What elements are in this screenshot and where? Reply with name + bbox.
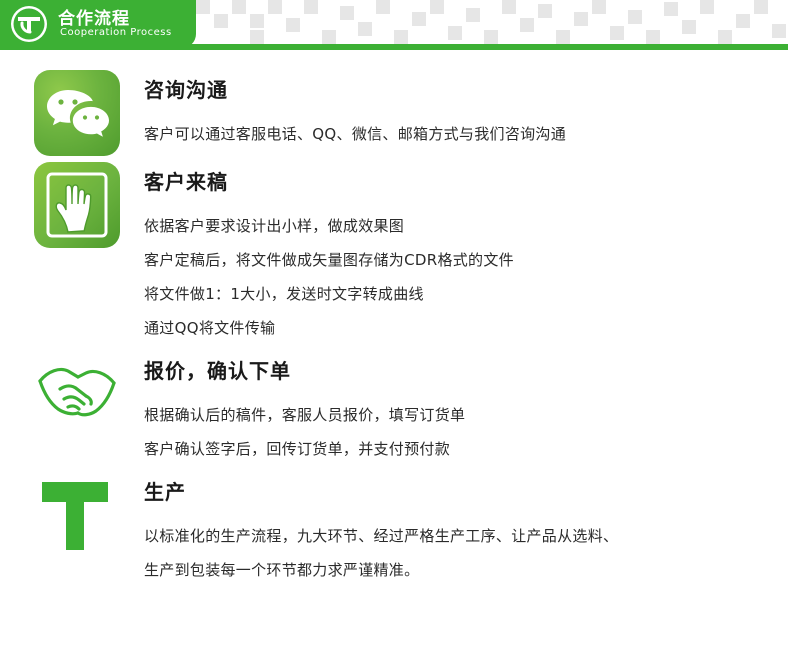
step-body: 生产 以标准化的生产流程，九大环节、经过严格生产工序、让产品从选料、 生产到包装…	[144, 472, 788, 587]
step-item: 生产 以标准化的生产流程，九大环节、经过严格生产工序、让产品从选料、 生产到包装…	[0, 472, 788, 587]
step-line: 根据确认后的稿件，客服人员报价，填写订货单	[144, 398, 788, 432]
step-title: 客户来稿	[144, 166, 788, 195]
hammer-icon	[34, 472, 120, 558]
header-tab: 合作流程 Cooperation Process	[0, 0, 196, 48]
step-line: 客户确认签字后，回传订货单，并支付预付款	[144, 432, 788, 466]
step-item: 咨询沟通 客户可以通过客服电话、QQ、微信、邮箱方式与我们咨询沟通	[0, 70, 788, 156]
step-line: 客户可以通过客服电话、QQ、微信、邮箱方式与我们咨询沟通	[144, 117, 788, 151]
step-title: 生产	[144, 476, 788, 505]
wechat-icon	[34, 70, 120, 156]
page-subtitle: Cooperation Process	[60, 27, 172, 38]
step-body: 客户来稿 依据客户要求设计出小样，做成效果图 客户定稿后，将文件做成矢量图存储为…	[144, 162, 788, 345]
step-line: 将文件做1：1大小，发送时文字转成曲线	[144, 277, 788, 311]
handshake-icon	[34, 351, 120, 437]
cooperation-steps-list: 咨询沟通 客户可以通过客服电话、QQ、微信、邮箱方式与我们咨询沟通 客户来稿 依…	[0, 58, 788, 587]
step-title: 报价，确认下单	[144, 355, 788, 384]
page-header: 合作流程 Cooperation Process	[0, 0, 788, 58]
page-title: 合作流程	[58, 4, 130, 29]
step-line: 客户定稿后，将文件做成矢量图存储为CDR格式的文件	[144, 243, 788, 277]
hand-draft-icon	[34, 162, 120, 248]
step-title: 咨询沟通	[144, 74, 788, 103]
step-line: 生产到包装每一个环节都力求严谨精准。	[144, 553, 788, 587]
step-line: 以标准化的生产流程，九大环节、经过严格生产工序、让产品从选料、	[144, 519, 788, 553]
step-body: 咨询沟通 客户可以通过客服电话、QQ、微信、邮箱方式与我们咨询沟通	[144, 70, 788, 151]
step-body: 报价，确认下单 根据确认后的稿件，客服人员报价，填写订货单 客户确认签字后，回传…	[144, 351, 788, 466]
step-line: 依据客户要求设计出小样，做成效果图	[144, 209, 788, 243]
step-item: 报价，确认下单 根据确认后的稿件，客服人员报价，填写订货单 客户确认签字后，回传…	[0, 351, 788, 466]
step-line: 通过QQ将文件传输	[144, 311, 788, 345]
company-logo-icon	[10, 5, 48, 43]
header-mosaic-decoration	[196, 0, 788, 48]
step-item: 客户来稿 依据客户要求设计出小样，做成效果图 客户定稿后，将文件做成矢量图存储为…	[0, 162, 788, 345]
